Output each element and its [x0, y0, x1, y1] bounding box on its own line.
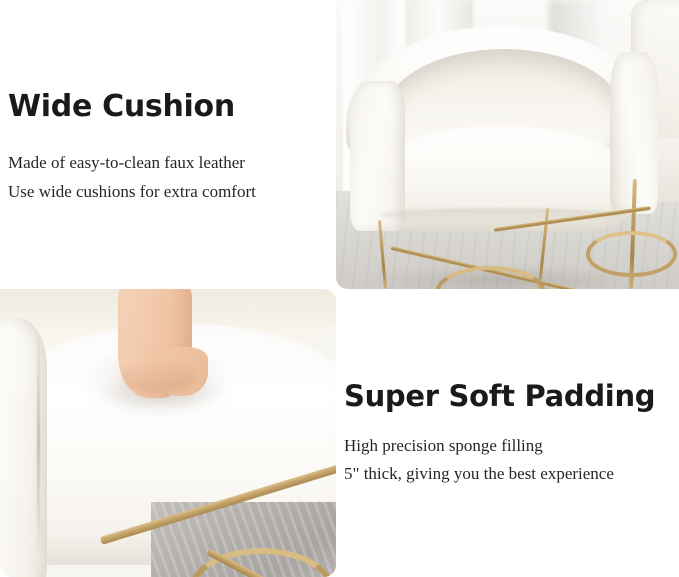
gold-base-ring-second-chair — [586, 231, 676, 277]
feature-description-line-1: Made of easy-to-clean faux leather — [8, 148, 245, 177]
infographic-canvas: Wide Cushion Made of easy-to-clean faux … — [0, 0, 679, 577]
feature-description-line-2: Use wide cushions for extra comfort — [8, 177, 256, 206]
feature-block-super-soft-padding: Super Soft Padding High precision sponge… — [336, 289, 679, 577]
feature-headline-wide-cushion: Wide Cushion — [8, 88, 235, 126]
photo-cushion-press-test: Close-up of a hand pressing down into th… — [0, 289, 336, 577]
arm-stitch-seam — [37, 329, 40, 554]
hand-shading — [121, 358, 195, 393]
feature-block-wide-cushion: Wide Cushion Made of easy-to-clean faux … — [0, 0, 336, 288]
chair-arm-left — [0, 318, 47, 577]
feature-description-line-1: High precision sponge filling — [344, 431, 543, 460]
photo-chair-full-view: Cream faux leather barrel accent chair w… — [336, 0, 679, 289]
feature-description-line-2: 5" thick, giving you the best experience — [344, 459, 614, 488]
chair-left-arm — [350, 81, 405, 231]
feature-headline-super-soft-padding: Super Soft Padding — [344, 377, 655, 415]
